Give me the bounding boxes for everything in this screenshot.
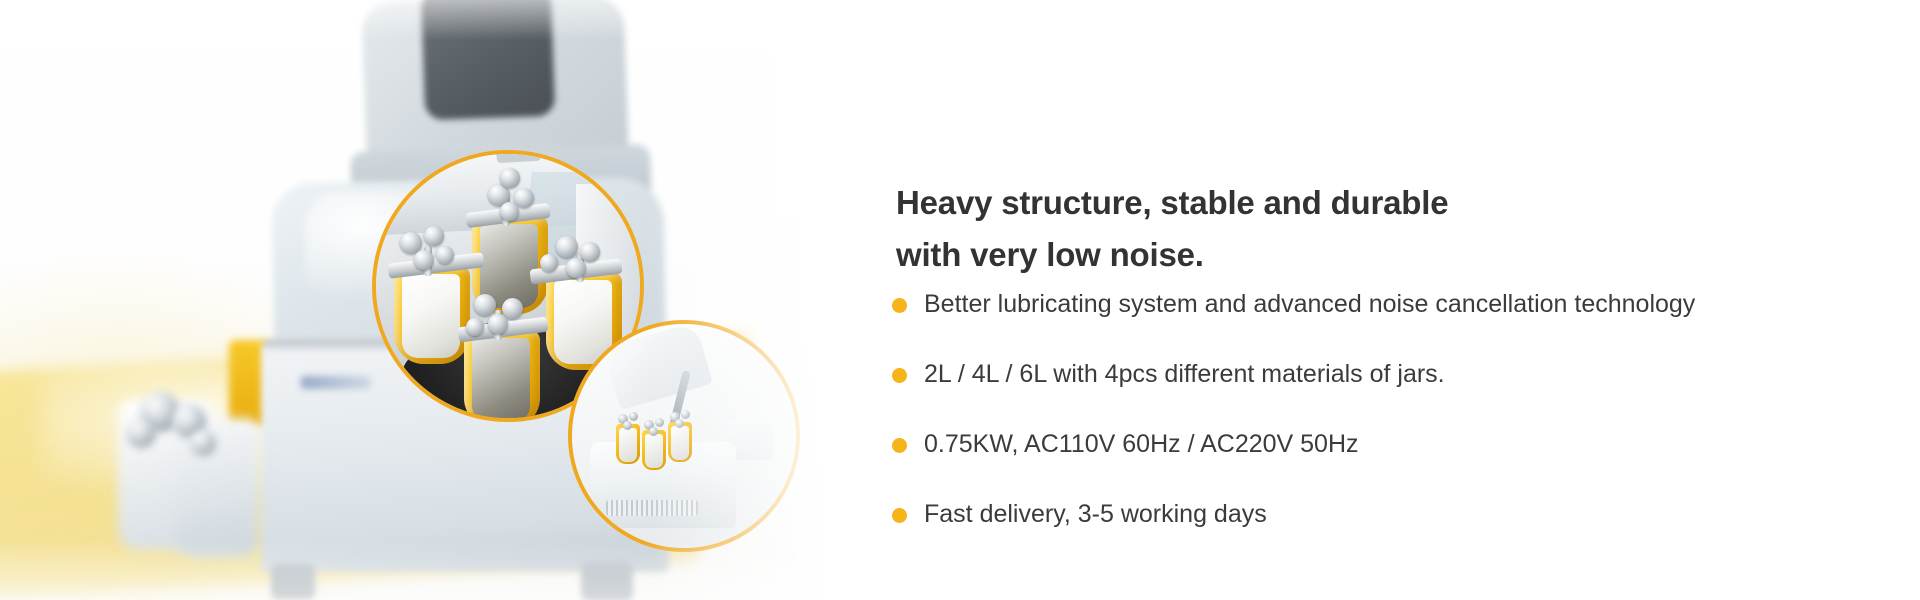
knob-ball [675,419,684,428]
machine-foot-left [271,564,315,600]
knob-ball [436,246,454,264]
feature-text: 0.75KW, AC110V 60Hz / AC220V 50Hz [924,418,1850,470]
knob-ball [474,294,496,316]
machine-foot-right [581,562,633,600]
magnifier-callout-machine [568,320,800,552]
foreground-knob-ball [190,430,216,456]
bullet-dot-icon [892,298,907,313]
knob-ball [502,298,523,319]
jar-vessel [645,434,663,468]
product-photo [0,0,880,600]
knob-ball [500,168,520,188]
knob-ball [414,250,434,270]
headline-line-1: Heavy structure, stable and durable [896,177,1716,229]
knob-ball [500,202,519,221]
knob-ball [466,318,484,336]
feature-item: Fast delivery, 3-5 working days [890,488,1850,540]
feature-item: 0.75KW, AC110V 60Hz / AC220V 50Hz [890,418,1850,470]
knob-ball [566,258,586,278]
feature-text: Better lubricating system and advanced n… [924,278,1850,330]
knob-ball [629,412,638,421]
feature-item: 2L / 4L / 6L with 4pcs different materia… [890,348,1850,400]
machine-lid-window [421,0,555,120]
knob-ball [681,410,690,419]
bullet-dot-icon [892,368,907,383]
feature-list: Better lubricating system and advanced n… [890,278,1850,558]
content-pane: Heavy structure, stable and durable with… [890,0,1890,600]
knob-ball [623,421,632,430]
knob-ball [540,254,558,272]
knob-ball [649,427,658,436]
knob-ball [424,226,444,246]
headline-line-2: with very low noise. [896,229,1716,281]
machine-logo [301,376,371,389]
feature-text: Fast delivery, 3-5 working days [924,488,1850,540]
jar-vessel [619,428,637,462]
sub-machine-vent [606,500,698,516]
foreground-knob-ball [126,418,156,448]
bullet-dot-icon [892,508,907,523]
feature-text: 2L / 4L / 6L with 4pcs different materia… [924,348,1850,400]
headline: Heavy structure, stable and durable with… [896,177,1716,281]
bullet-dot-icon [892,438,907,453]
feature-item: Better lubricating system and advanced n… [890,278,1850,330]
knob-ball [556,236,578,258]
knob-ball [580,242,600,262]
chamber-lid-notch [496,150,541,163]
jar-vessel [671,426,689,460]
knob-ball [655,418,664,427]
foreground-jar-right [176,418,260,558]
knob-ball [488,314,508,334]
promo-banner: Heavy structure, stable and durable with… [0,0,1920,600]
jar-vessel [472,338,530,422]
jar-vessel [402,274,460,358]
